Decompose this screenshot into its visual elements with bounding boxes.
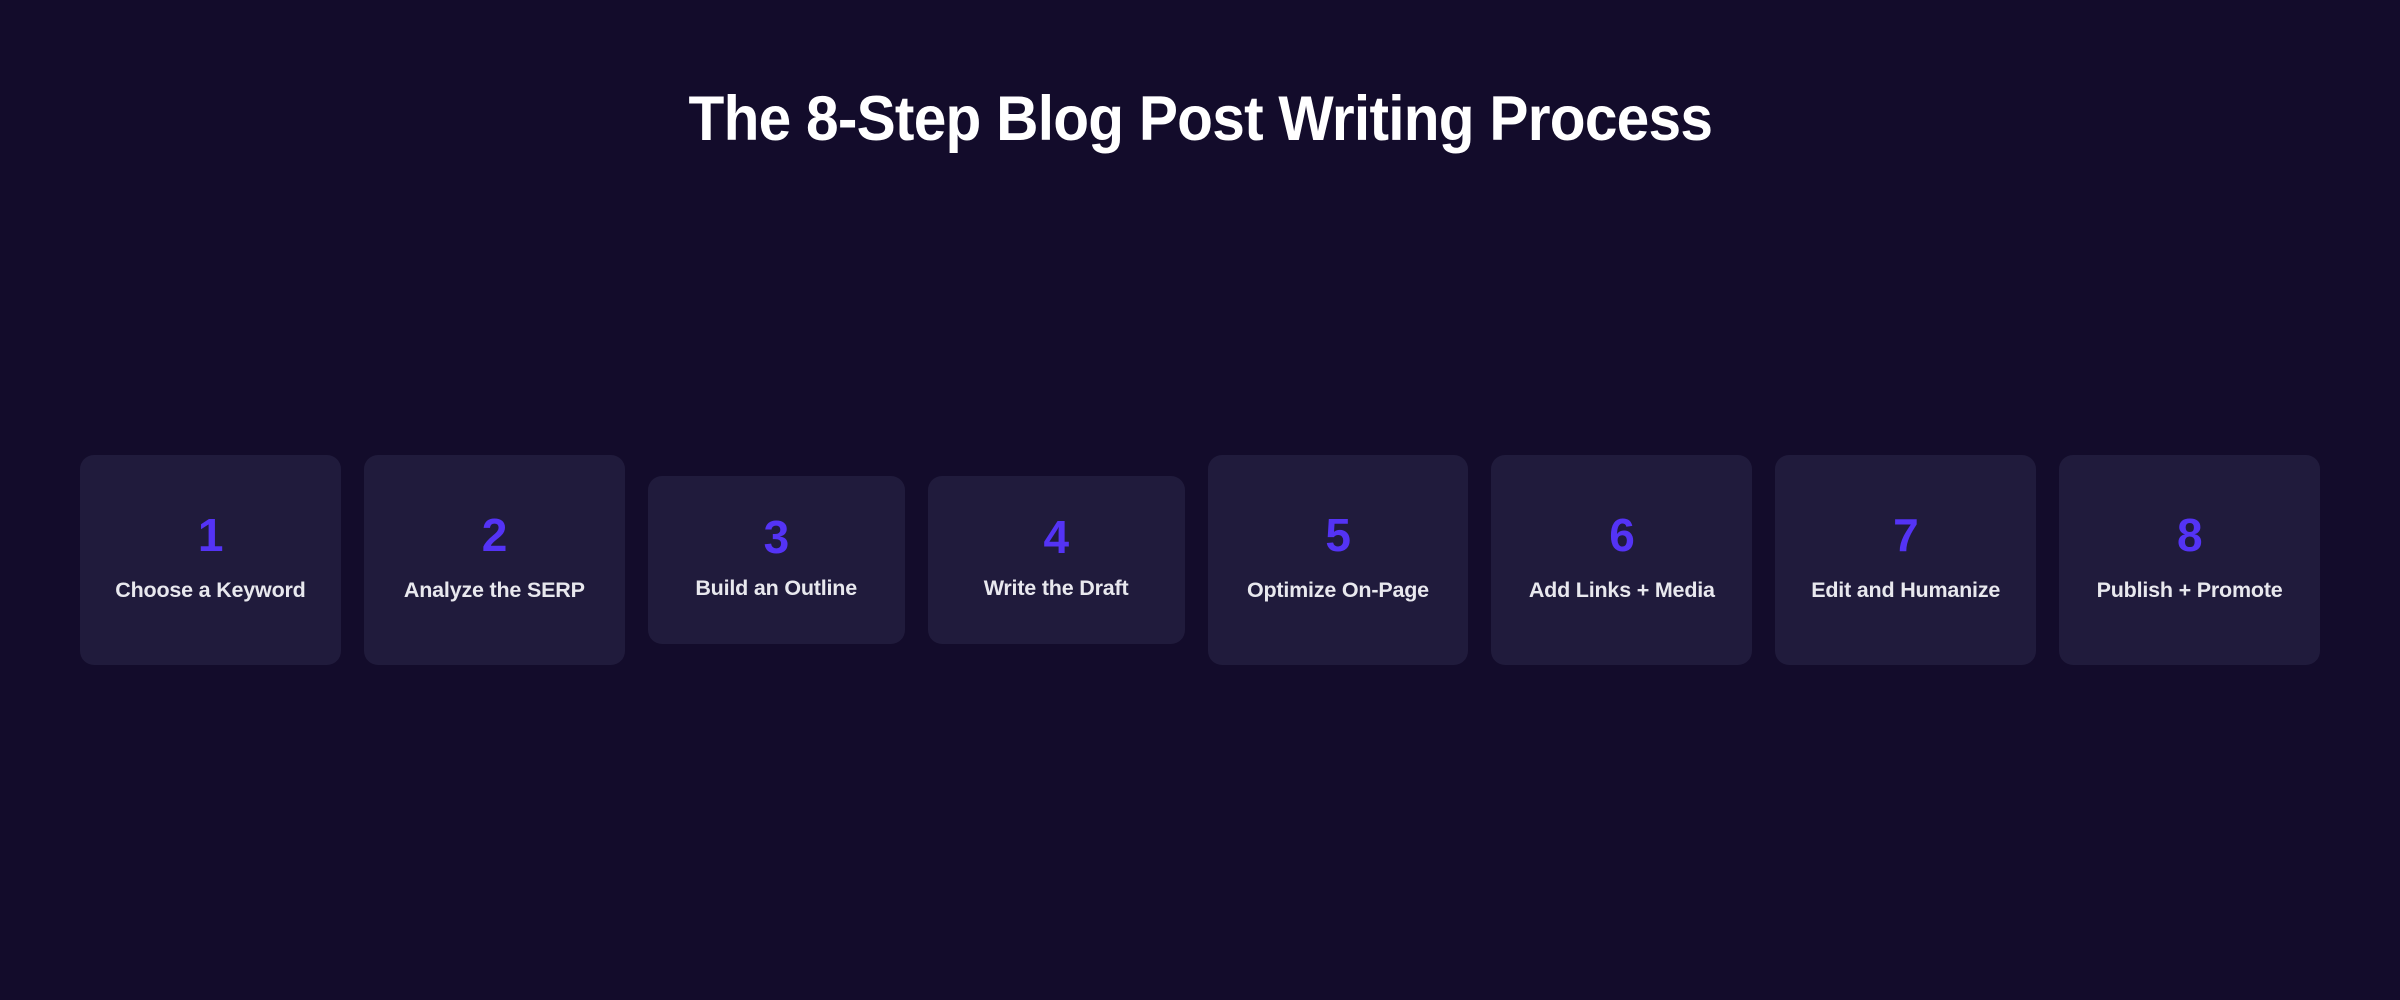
steps-row: 1 Choose a Keyword 2 Analyze the SERP 3 … [80,455,2320,665]
step-number-7: 7 [1893,512,1918,558]
step-card-8[interactable]: 8 Publish + Promote [2059,455,2320,665]
page-title: The 8-Step Blog Post Writing Process [688,85,1712,154]
infographic-canvas: The 8-Step Blog Post Writing Process 1 C… [0,0,2400,1000]
step-card-5[interactable]: 5 Optimize On-Page [1208,455,1469,665]
step-number-4: 4 [1044,514,1069,560]
step-card-1[interactable]: 1 Choose a Keyword [80,455,341,665]
step-number-1: 1 [198,512,223,558]
step-number-8: 8 [2177,512,2202,558]
step-number-5: 5 [1325,512,1350,558]
step-number-3: 3 [764,514,789,560]
step-label-3: Build an Outline [695,574,857,603]
step-card-2[interactable]: 2 Analyze the SERP [364,455,625,665]
step-card-4[interactable]: 4 Write the Draft [928,476,1185,644]
step-label-5: Optimize On-Page [1247,576,1429,605]
step-card-6[interactable]: 6 Add Links + Media [1491,455,1752,665]
step-label-2: Analyze the SERP [404,576,585,605]
step-card-3[interactable]: 3 Build an Outline [648,476,905,644]
step-label-6: Add Links + Media [1529,576,1715,605]
title-container: The 8-Step Blog Post Writing Process [0,0,2400,240]
step-number-6: 6 [1609,512,1634,558]
step-label-4: Write the Draft [984,574,1129,603]
step-card-7[interactable]: 7 Edit and Humanize [1775,455,2036,665]
step-label-7: Edit and Humanize [1811,576,2000,605]
step-number-2: 2 [482,512,507,558]
step-label-8: Publish + Promote [2097,576,2283,605]
step-label-1: Choose a Keyword [115,576,305,605]
